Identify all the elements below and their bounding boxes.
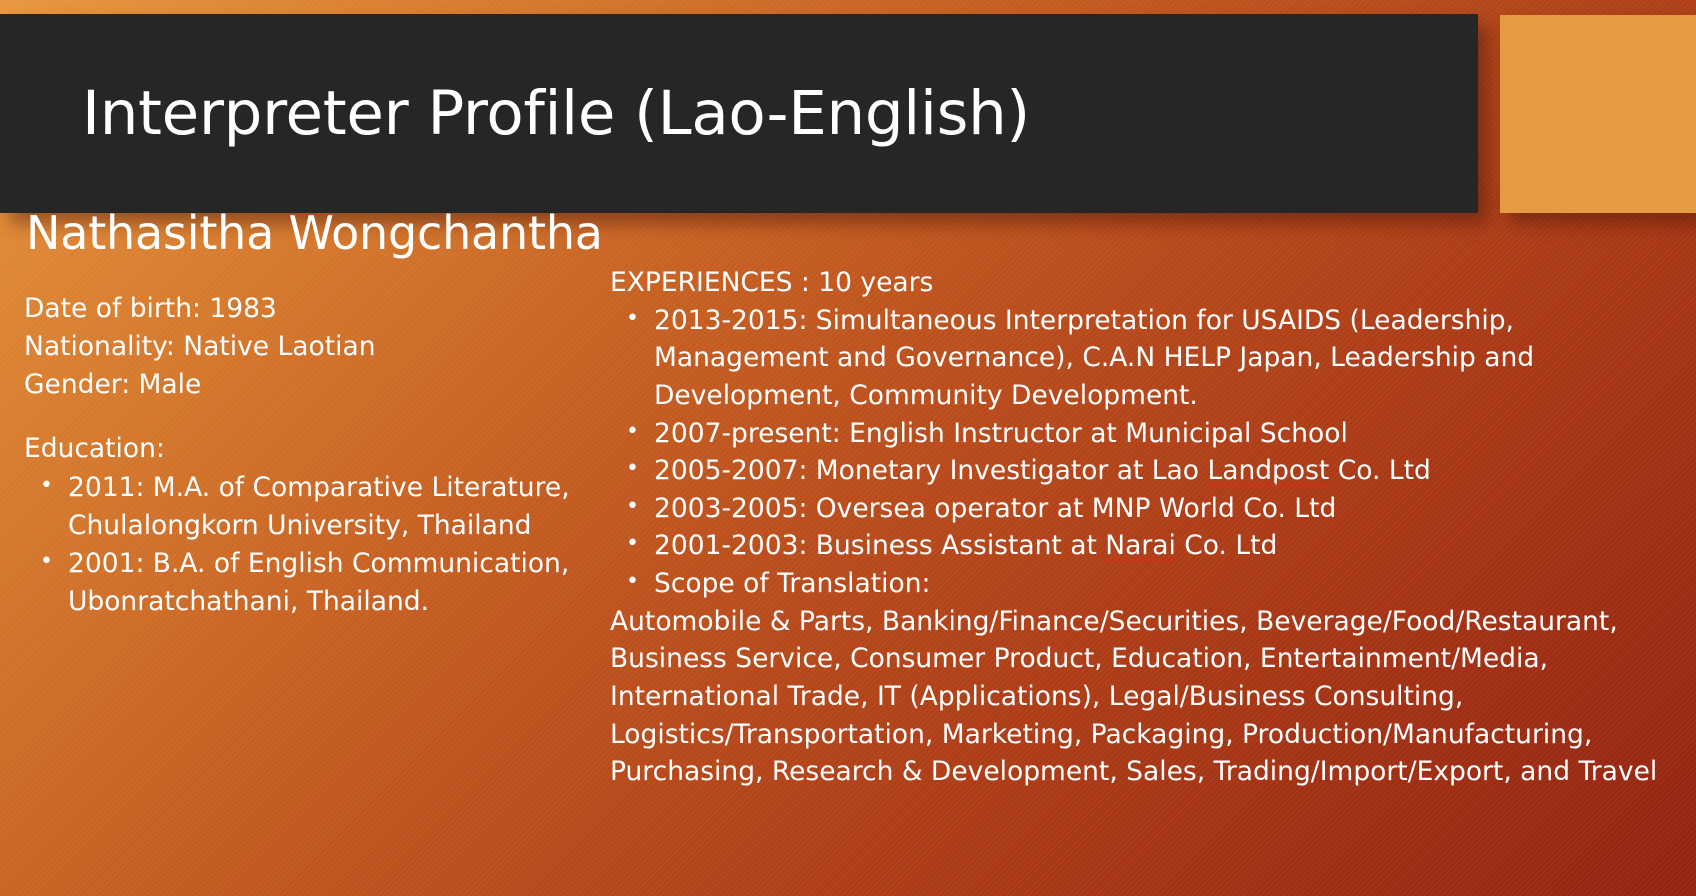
education-item: 2011: M.A. of Comparative Literature, Ch… (24, 469, 604, 545)
experience-item-text: 2001-2003: Business Assistant at (654, 530, 1105, 561)
experience-item: Scope of Translation: (610, 565, 1690, 603)
person-name: Nathasitha Wongchantha (26, 206, 603, 260)
experience-list: 2013-2015: Simultaneous Interpretation f… (610, 302, 1690, 603)
nationality-line: Nationality: Native Laotian (24, 328, 604, 366)
spellcheck-misspelled-word[interactable]: Landpost (1207, 455, 1329, 486)
education-list: 2011: M.A. of Comparative Literature, Ch… (24, 469, 604, 622)
education-item: 2001: B.A. of English Communication, Ubo… (24, 545, 604, 621)
left-column-spacer (24, 404, 604, 430)
experiences-heading: EXPERIENCES : 10 years (610, 264, 1690, 302)
experience-item-text: Scope of Translation: (654, 568, 930, 599)
experience-item: 2013-2015: Simultaneous Interpretation f… (610, 302, 1690, 415)
left-column: Date of birth: 1983 Nationality: Native … (24, 290, 604, 621)
experience-item: 2001-2003: Business Assistant at Narai C… (610, 527, 1690, 565)
experience-item-text-tail: Co. Ltd (1329, 455, 1431, 486)
experience-item: 2005-2007: Monetary Investigator at Lao … (610, 452, 1690, 490)
gender-line: Gender: Male (24, 366, 604, 404)
experience-item-text-tail: Co. Ltd (1176, 530, 1278, 561)
date-of-birth-line: Date of birth: 1983 (24, 290, 604, 328)
accent-block (1500, 15, 1696, 213)
education-heading: Education: (24, 430, 604, 468)
spellcheck-misspelled-word[interactable]: Narai (1105, 530, 1176, 561)
experience-item: 2003-2005: Oversea operator at MNP World… (610, 490, 1690, 528)
experience-item-text: 2003-2005: Oversea operator at MNP World… (654, 493, 1336, 524)
slide-canvas: Interpreter Profile (Lao-English) Nathas… (0, 0, 1696, 896)
experience-item-text: 2007-present: English Instructor at Muni… (654, 418, 1348, 449)
right-column: EXPERIENCES : 10 years 2013-2015: Simult… (610, 264, 1690, 791)
experience-item: 2007-present: English Instructor at Muni… (610, 415, 1690, 453)
page-title: Interpreter Profile (Lao-English) (0, 80, 1030, 147)
experience-item-text: 2013-2015: Simultaneous Interpretation f… (654, 305, 1534, 411)
title-block: Interpreter Profile (Lao-English) (0, 14, 1478, 213)
scope-paragraph: Automobile & Parts, Banking/Finance/Secu… (610, 603, 1690, 791)
experience-item-text: 2005-2007: Monetary Investigator at Lao (654, 455, 1207, 486)
